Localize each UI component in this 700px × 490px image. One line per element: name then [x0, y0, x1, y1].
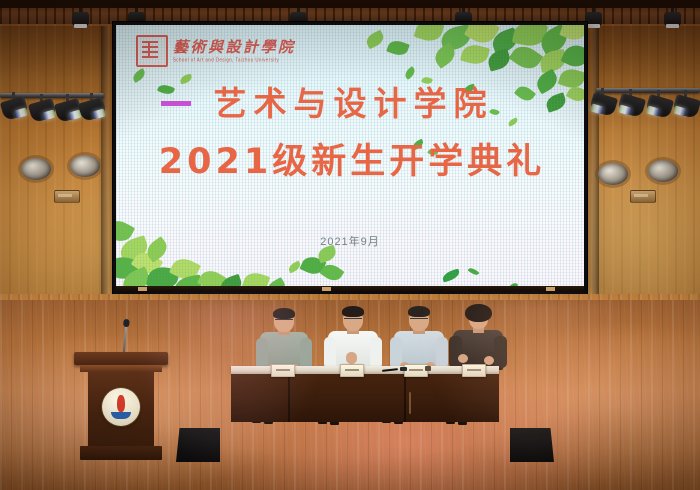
leaf-decor [460, 42, 490, 67]
person-arm [436, 337, 448, 369]
ceiling-shadow-strip [0, 0, 700, 8]
person-arm [370, 337, 382, 369]
logo-english-name: School of Art and Design, Taizhou Univer… [173, 58, 296, 63]
person-hand-clasped [346, 352, 357, 364]
eyeglasses [344, 318, 362, 322]
auditorium-stage-photo: 藝術與設計學院 School of Art and Design, Taizho… [0, 0, 700, 490]
stage-spotlight-icon [674, 96, 699, 116]
person-hair [465, 304, 492, 322]
logo-text-group: 藝術與設計學院 School of Art and Design, Taizho… [173, 40, 296, 62]
podium-lip [80, 365, 162, 372]
leaf-decor [486, 48, 512, 71]
ceiling-spotlight-icon [664, 8, 681, 27]
person-hand-gesturing [458, 354, 468, 363]
stage-spotlight-icon [591, 94, 616, 114]
screen-mount-clip [322, 287, 331, 291]
seated-official-2 [326, 306, 380, 370]
wall-utility-box [630, 190, 656, 203]
stage-spotlight-icon [30, 100, 55, 120]
leaf-decor [441, 268, 461, 282]
table-panel-seam [404, 374, 406, 422]
eyeglasses [275, 319, 293, 323]
person-hair [342, 306, 364, 317]
stage-spotlight-icon [56, 100, 81, 120]
seated-official-3 [392, 306, 446, 370]
eyeglasses [410, 318, 428, 322]
ceiling-spotlight-icon [72, 8, 89, 27]
stage-spotlight-icon [80, 99, 105, 119]
table-front-panel [231, 374, 499, 422]
ceremony-title-line-2: 2021级新生开学典礼 [116, 133, 584, 184]
wall-speaker-grille [648, 160, 678, 182]
ceremony-date: 2021年9月 [116, 233, 584, 249]
seated-official-1 [258, 308, 310, 370]
red-seal-stamp-icon [136, 35, 168, 67]
school-logo: 藝術與設計學院 School of Art and Design, Taizho… [136, 35, 296, 67]
ceiling-spotlight-icon [585, 8, 602, 27]
screen-bottom-frame [116, 286, 584, 291]
screen-mount-clip [546, 287, 555, 291]
stage-spotlight-icon [2, 98, 27, 118]
leaf-decor [560, 41, 584, 71]
stage-spotlight-icon [647, 96, 672, 116]
logo-chinese-name: 藝術與設計學院 [173, 40, 296, 55]
podium-top [74, 352, 168, 365]
ceremony-title-line-1: 艺术与设计学院 [116, 77, 584, 125]
leaf-decor [414, 25, 445, 45]
leaf-decor [468, 266, 480, 277]
university-emblem-icon [102, 388, 140, 426]
speaking-podium [78, 352, 164, 460]
seated-official-4 [452, 304, 504, 370]
person-arm [324, 337, 336, 369]
person-arm [494, 336, 507, 368]
name-placard [462, 364, 486, 377]
wall-speaker-grille [70, 155, 100, 177]
person-arm [449, 336, 462, 368]
leaf-decor [386, 38, 410, 58]
person-hair [273, 308, 295, 319]
floor-monitor-speaker [176, 428, 220, 462]
floor-monitor-speaker [510, 428, 554, 462]
table-panel-handle [409, 392, 411, 414]
name-placard [340, 364, 364, 377]
wall-utility-box [54, 190, 80, 203]
led-display-frame: 藝術與設計學院 School of Art and Design, Taizho… [113, 22, 587, 294]
stage-spotlight-icon [619, 95, 644, 115]
wall-speaker-grille [21, 158, 51, 180]
desk-item [400, 367, 407, 371]
table-panel-seam [288, 374, 290, 422]
wall-speaker-grille [598, 163, 628, 185]
podium-base [80, 446, 162, 460]
led-display-screen: 藝術與設計學院 School of Art and Design, Taizho… [116, 25, 584, 291]
screen-mount-clip [138, 287, 147, 291]
name-placard [271, 364, 295, 377]
person-hair [408, 306, 430, 317]
leaf-decor [364, 30, 386, 49]
desk-item [425, 366, 431, 371]
